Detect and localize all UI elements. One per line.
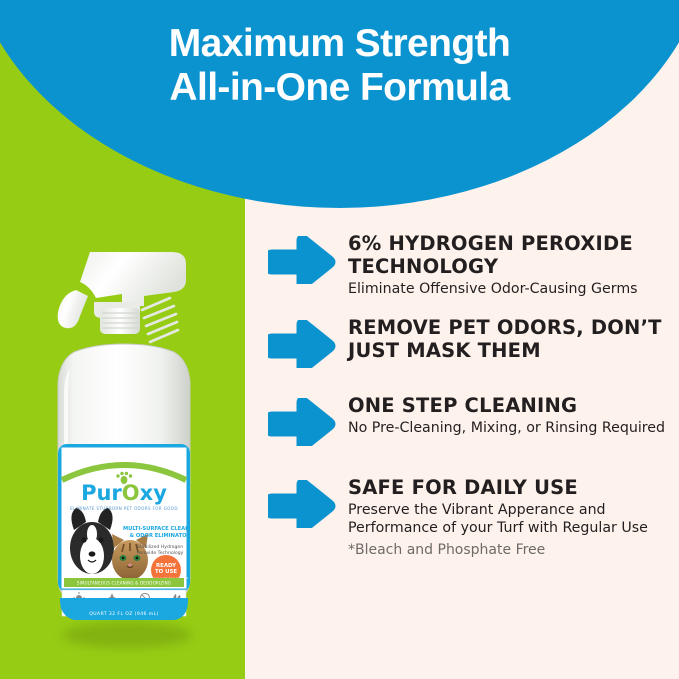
feature-list: 6% HYDROGEN PEROXIDE TECHNOLOGY Eliminat… [268,232,679,558]
infographic-canvas: Maximum Strength All-in-One Formula [0,0,679,679]
arrow-right-icon [268,398,336,446]
feature-subtitle: No Pre-Cleaning, Mixing, or Rinsing Requ… [348,419,679,437]
arrow-right-icon [268,480,336,528]
label-tech-2: Peroxide Technology [137,550,184,556]
headline-line-2: All-in-One Formula [0,66,679,110]
label-subhead-2: & ODOR ELIMINATOR [129,533,190,539]
feature-title: REMOVE PET ODORS, DON’T JUST MASK THEM [348,316,679,362]
bottle-label: PurOxy ELIMINATE STUBBORN PET ODORS FOR … [58,444,197,592]
feature-subtitle: Eliminate Offensive Odor-Causing Germs [348,280,679,298]
feature-title: SAFE FOR DAILY USE [348,476,679,499]
feature-item: SAFE FOR DAILY USE Preserve the Vibrant … [268,476,679,538]
feature-title: ONE STEP CLEANING [348,394,679,417]
bottle-drop-shadow [62,622,192,648]
page-title: Maximum Strength All-in-One Formula [0,22,679,111]
label-green-banner: SIMULTANEOUS CLEANING & DEODORIZING [77,581,171,586]
label-tagline: ELIMINATE STUBBORN PET ODORS FOR GOOD [70,506,178,511]
headline-line-1: Maximum Strength [169,22,510,65]
brand-name: PurOxy [81,481,167,505]
footnote-text: *Bleach and Phosphate Free [348,542,679,558]
bottle-volume-text: QUART 32 FL OZ (946 mL) [89,611,158,617]
label-subhead-1: MULTI-SURFACE CLEANER [123,526,197,532]
feature-item: ONE STEP CLEANING No Pre-Cleaning, Mixin… [268,394,679,456]
badge-line-2: TO USE [155,569,177,575]
cat-photo [112,534,148,580]
arrow-right-icon [268,236,336,284]
feature-title: 6% HYDROGEN PEROXIDE TECHNOLOGY [348,232,679,278]
feature-item: REMOVE PET ODORS, DON’T JUST MASK THEM [268,316,679,368]
arrow-right-icon [268,320,336,368]
spray-trigger-head [58,252,186,342]
feature-subtitle: Preserve the Vibrant Apperance and Perfo… [348,501,679,537]
feature-item: 6% HYDROGEN PEROXIDE TECHNOLOGY Eliminat… [268,232,679,298]
label-tech-1: Stabilized Hydrogen [137,544,183,550]
product-bottle-image: PurOxy ELIMINATE STUBBORN PET ODORS FOR … [44,248,204,623]
